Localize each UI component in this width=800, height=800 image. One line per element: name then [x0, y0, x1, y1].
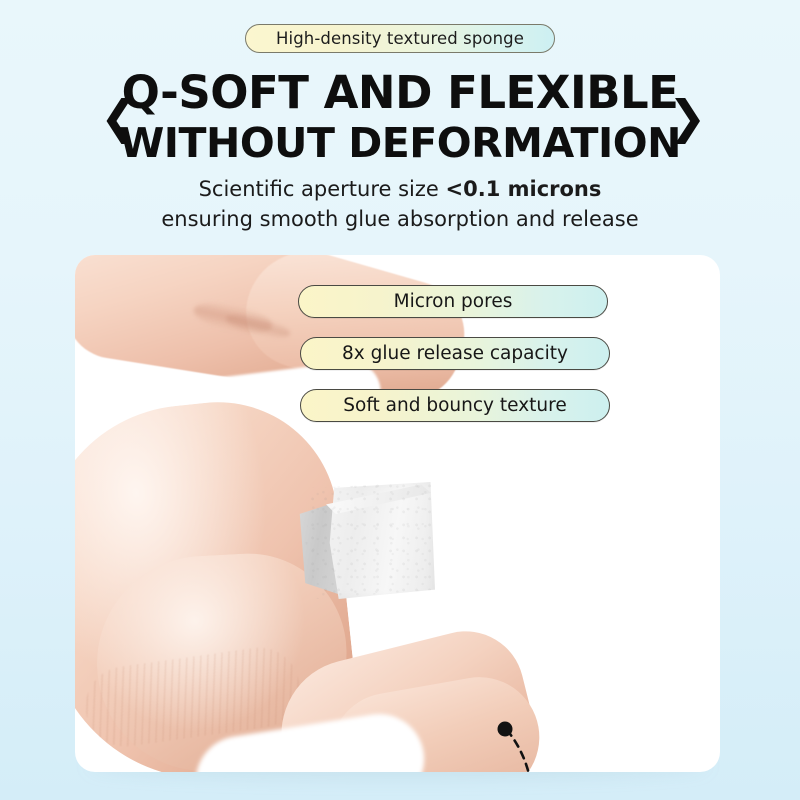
product-feature-banner: High-density textured sponge ❮ ❯ Q-SOFT …	[0, 0, 800, 800]
headline-line-2: WITHOUT DEFORMATION	[0, 123, 800, 164]
subtitle-line-1: Scientific aperture size <0.1 microns	[0, 175, 800, 203]
sponge-pore-texture	[297, 482, 437, 599]
feature-pill-3-label: Soft and bouncy texture	[343, 395, 566, 416]
feature-pill-1: Micron pores	[298, 285, 608, 318]
product-photo-card	[75, 255, 720, 772]
feature-pill-3: Soft and bouncy texture	[300, 389, 610, 422]
arc-dot-top	[498, 722, 513, 737]
page-title: Q-SOFT AND FLEXIBLE WITHOUT DEFORMATION	[0, 70, 800, 164]
dashed-arc-path	[507, 730, 532, 772]
subtitle-line-2: ensuring smooth glue absorption and rele…	[0, 205, 800, 233]
feature-pill-2: 8x glue release capacity	[300, 337, 610, 370]
white-sponge-product	[297, 482, 437, 599]
subtitle-emphasis: <0.1 microns	[446, 177, 602, 201]
subtitle-prefix: Scientific aperture size	[199, 177, 446, 201]
subtitle: Scientific aperture size <0.1 microns en…	[0, 175, 800, 234]
hand-holding-sponge-photo	[75, 255, 720, 772]
headline-line-1: Q-SOFT AND FLEXIBLE	[0, 70, 800, 115]
dashed-curve-flex-indicator	[485, 710, 565, 772]
feature-pill-1-label: Micron pores	[394, 291, 513, 312]
top-badge-label: High-density textured sponge	[276, 29, 524, 48]
feature-pill-2-label: 8x glue release capacity	[342, 343, 568, 364]
top-badge: High-density textured sponge	[245, 24, 555, 53]
